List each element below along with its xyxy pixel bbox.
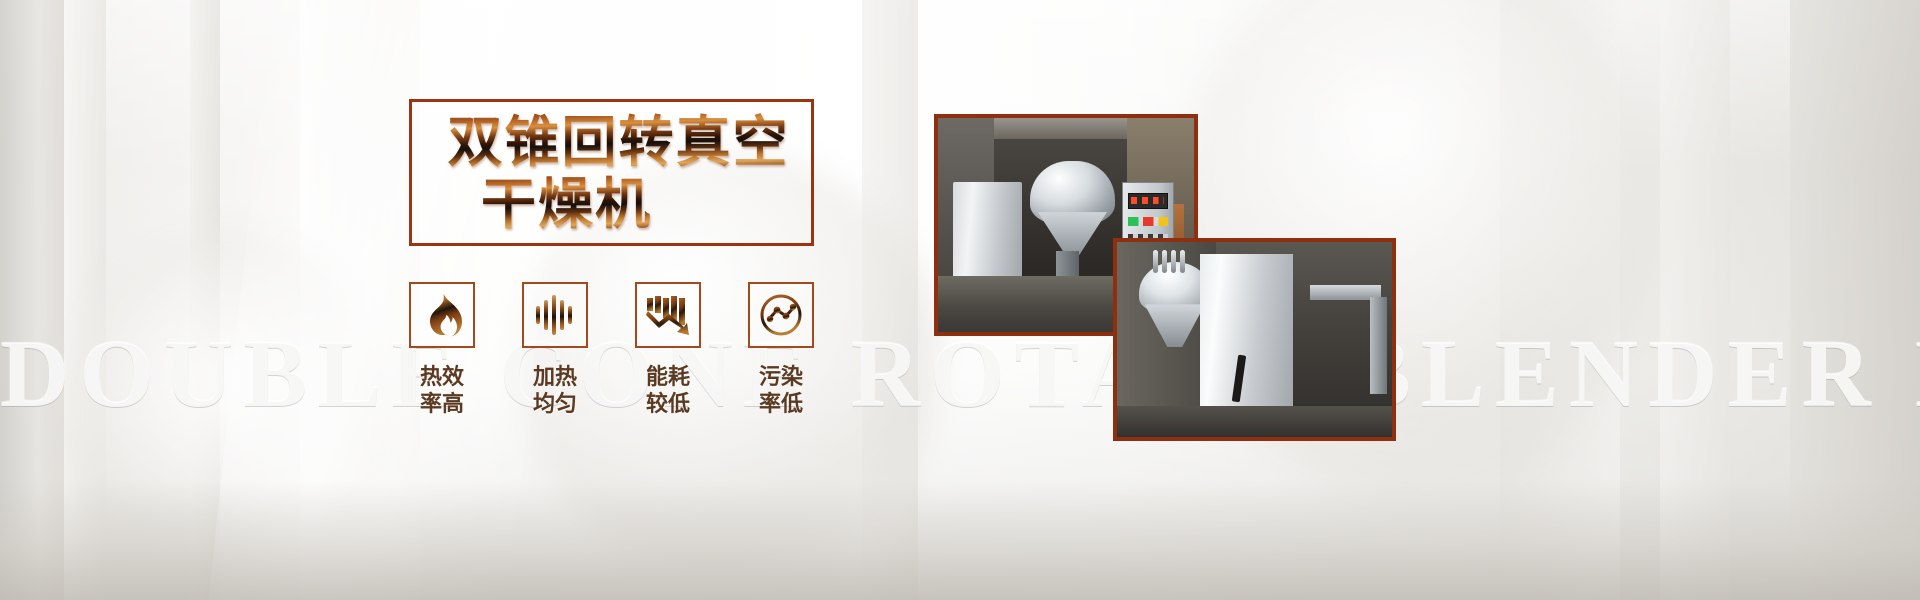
title-line-2: 干燥机 <box>481 174 652 234</box>
even-heating-icon <box>533 293 577 337</box>
photo-2-valve <box>1162 250 1167 273</box>
banner-content: 双锥回转真空 干燥机 <box>0 0 900 600</box>
photo-2-floor <box>1117 406 1392 437</box>
flame-icon <box>422 293 462 337</box>
photo-1-indicator-lights <box>1128 217 1167 226</box>
feature-item-low-energy[interactable]: 能耗 较低 <box>635 282 701 418</box>
photo-1-digital-meter <box>1128 193 1167 209</box>
feature-item-thermal-efficiency[interactable]: 热效 率高 <box>409 282 475 418</box>
feature-label: 能耗 较低 <box>646 364 690 418</box>
feature-icon-box <box>522 282 588 348</box>
feature-icon-box <box>748 282 814 348</box>
feature-icon-box <box>409 282 475 348</box>
feature-icon-box <box>635 282 701 348</box>
title-line-1: 双锥回转真空 <box>447 112 789 172</box>
photo-2-valve <box>1180 250 1185 273</box>
feature-label: 热效 率高 <box>420 364 464 418</box>
product-photo-2[interactable] <box>1113 238 1396 441</box>
photo-2-valve <box>1153 250 1158 273</box>
photo-2-valve-cluster <box>1153 250 1203 273</box>
photo-2-valve <box>1171 250 1176 273</box>
feature-item-low-pollution[interactable]: 污染 率低 <box>748 282 814 418</box>
feature-label: 加热 均匀 <box>533 364 577 418</box>
photo-2-shaft <box>1370 297 1387 395</box>
declining-chart-icon <box>646 294 690 336</box>
feature-list: 热效 率高 <box>409 282 814 418</box>
page-title: 双锥回转真空 干燥机 <box>409 99 814 246</box>
feature-item-even-heating[interactable]: 加热 均匀 <box>522 282 588 418</box>
low-pollution-icon <box>760 294 802 336</box>
feature-label: 污染 率低 <box>759 364 803 418</box>
